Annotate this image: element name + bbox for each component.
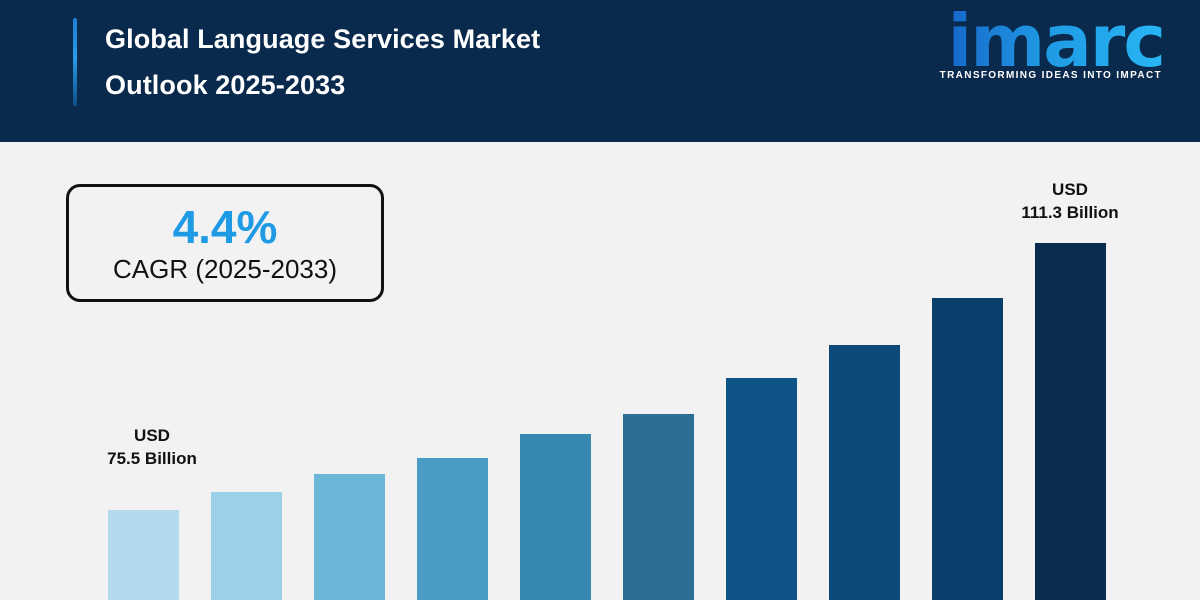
logo-wordmark: imarc <box>948 5 1164 77</box>
bar-chart: USD 75.5 Billion USD 111.3 Billion <box>0 142 1200 600</box>
page-title-line-1: Global Language Services Market <box>105 24 540 54</box>
chart-bar <box>726 378 797 600</box>
page-title: Global Language Services Market Outlook … <box>105 16 805 108</box>
logo-tagline: TRANSFORMING IDEAS INTO IMPACT <box>914 70 1162 81</box>
first-bar-annotation-unit: USD <box>62 424 242 447</box>
chart-bar <box>1035 243 1106 600</box>
first-bar-annotation: USD 75.5 Billion <box>62 424 242 470</box>
logo-mark: imarc <box>914 2 1164 80</box>
last-bar-annotation-amount: 111.3 Billion <box>980 201 1160 224</box>
chart-bar <box>211 492 282 600</box>
chart-bar <box>314 474 385 600</box>
chart-bar <box>108 510 179 600</box>
first-bar-annotation-amount: 75.5 Billion <box>62 447 242 470</box>
infographic-root: Global Language Services Market Outlook … <box>0 0 1200 600</box>
chart-bar <box>520 434 591 600</box>
chart-bar <box>932 298 1003 600</box>
header-accent-bar <box>73 18 77 106</box>
chart-bar <box>829 345 900 600</box>
chart-bar <box>623 414 694 600</box>
last-bar-annotation: USD 111.3 Billion <box>980 178 1160 224</box>
page-title-line-2: Outlook 2025-2033 <box>105 62 805 108</box>
header-banner: Global Language Services Market Outlook … <box>0 0 1200 142</box>
last-bar-annotation-unit: USD <box>980 178 1160 201</box>
brand-logo: imarc TRANSFORMING IDEAS INTO IMPACT <box>914 0 1164 110</box>
chart-bar <box>417 458 488 600</box>
